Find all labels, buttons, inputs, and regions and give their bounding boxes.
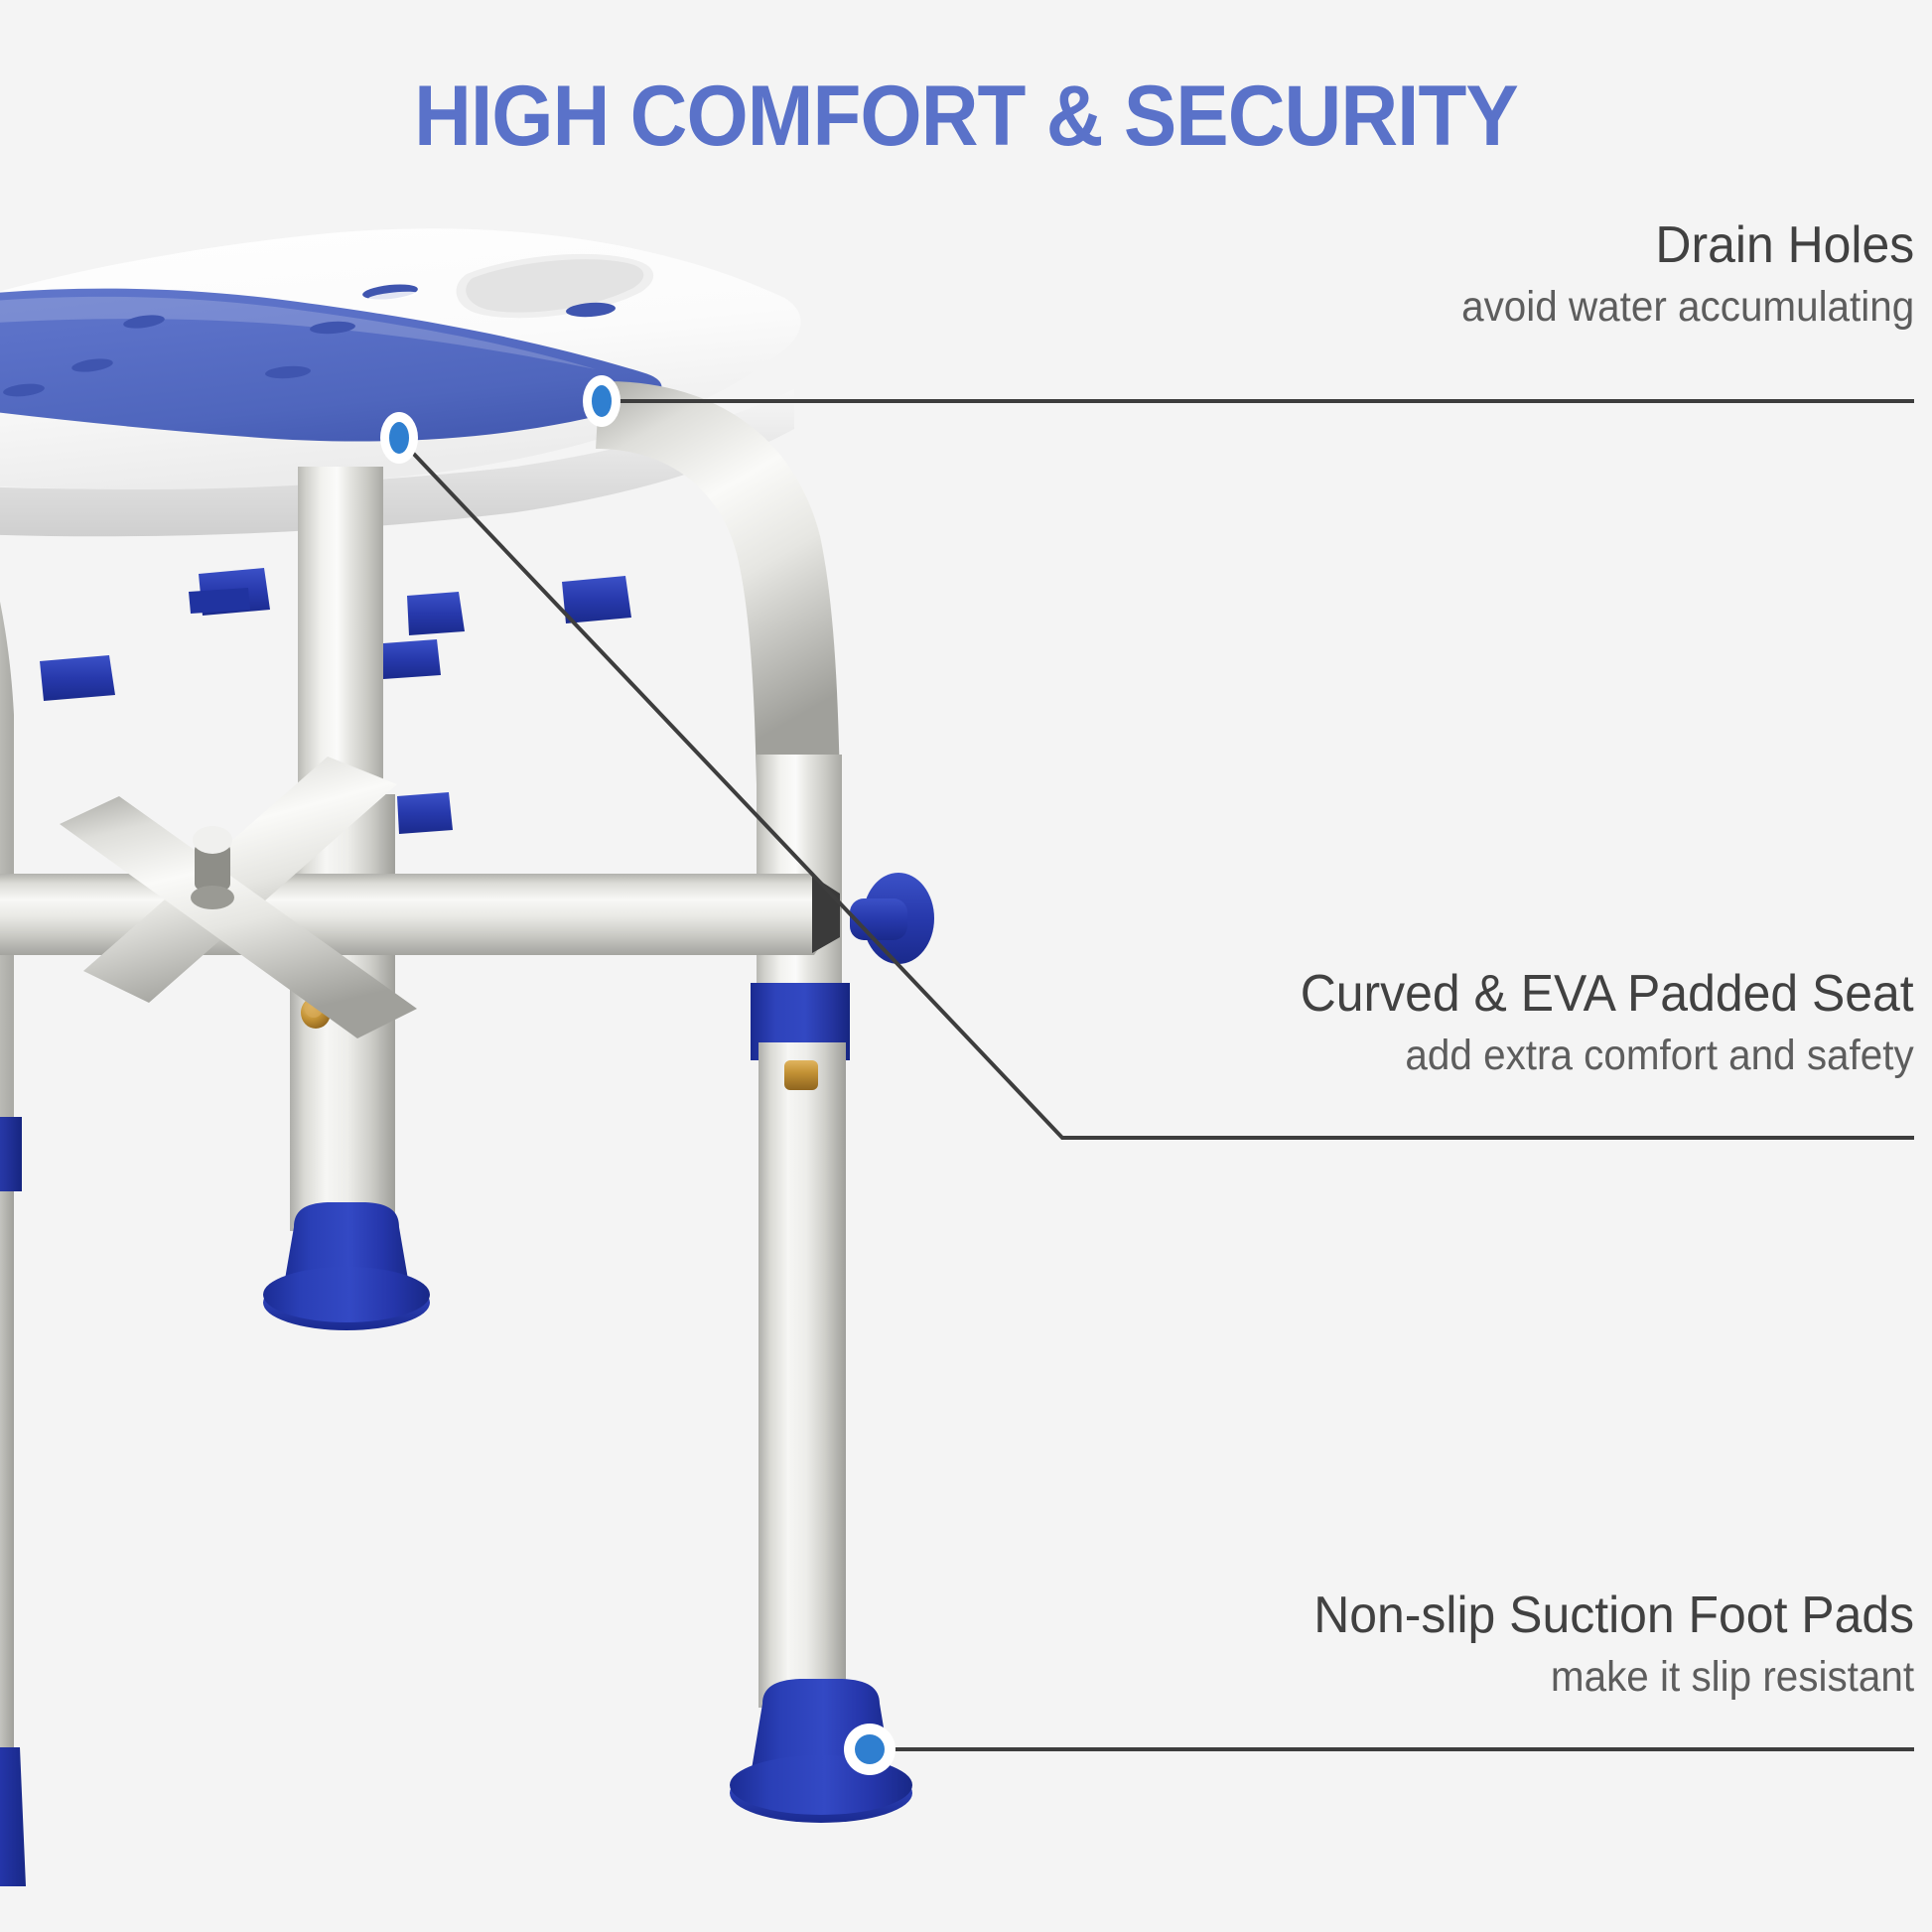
infographic-canvas: HIGH COMFORT & SECURITY Drain Holes — [0, 0, 1932, 1932]
marker-eva-seat — [380, 412, 418, 464]
callout-curved-eva-padded-seat: Curved & EVA Padded Seat add extra comfo… — [1275, 965, 1914, 1081]
callout-drain-holes: Drain Holes avoid water accumulating — [1433, 216, 1914, 333]
marker-foot-pads — [844, 1724, 896, 1775]
callout-curved-eva-padded-seat-subtitle: add extra comfort and safety — [1313, 1031, 1914, 1082]
callout-drain-holes-subtitle: avoid water accumulating — [1461, 282, 1914, 334]
marker-drain-holes — [583, 375, 621, 427]
callout-drain-holes-title: Drain Holes — [1451, 216, 1914, 276]
callout-non-slip-suction-foot-pads: Non-slip Suction Foot Pads make it slip … — [1289, 1587, 1914, 1703]
callout-non-slip-suction-foot-pads-title: Non-slip Suction Foot Pads — [1313, 1587, 1914, 1646]
callout-non-slip-suction-foot-pads-subtitle: make it slip resistant — [1326, 1652, 1914, 1704]
callout-curved-eva-padded-seat-title: Curved & EVA Padded Seat — [1301, 965, 1914, 1025]
